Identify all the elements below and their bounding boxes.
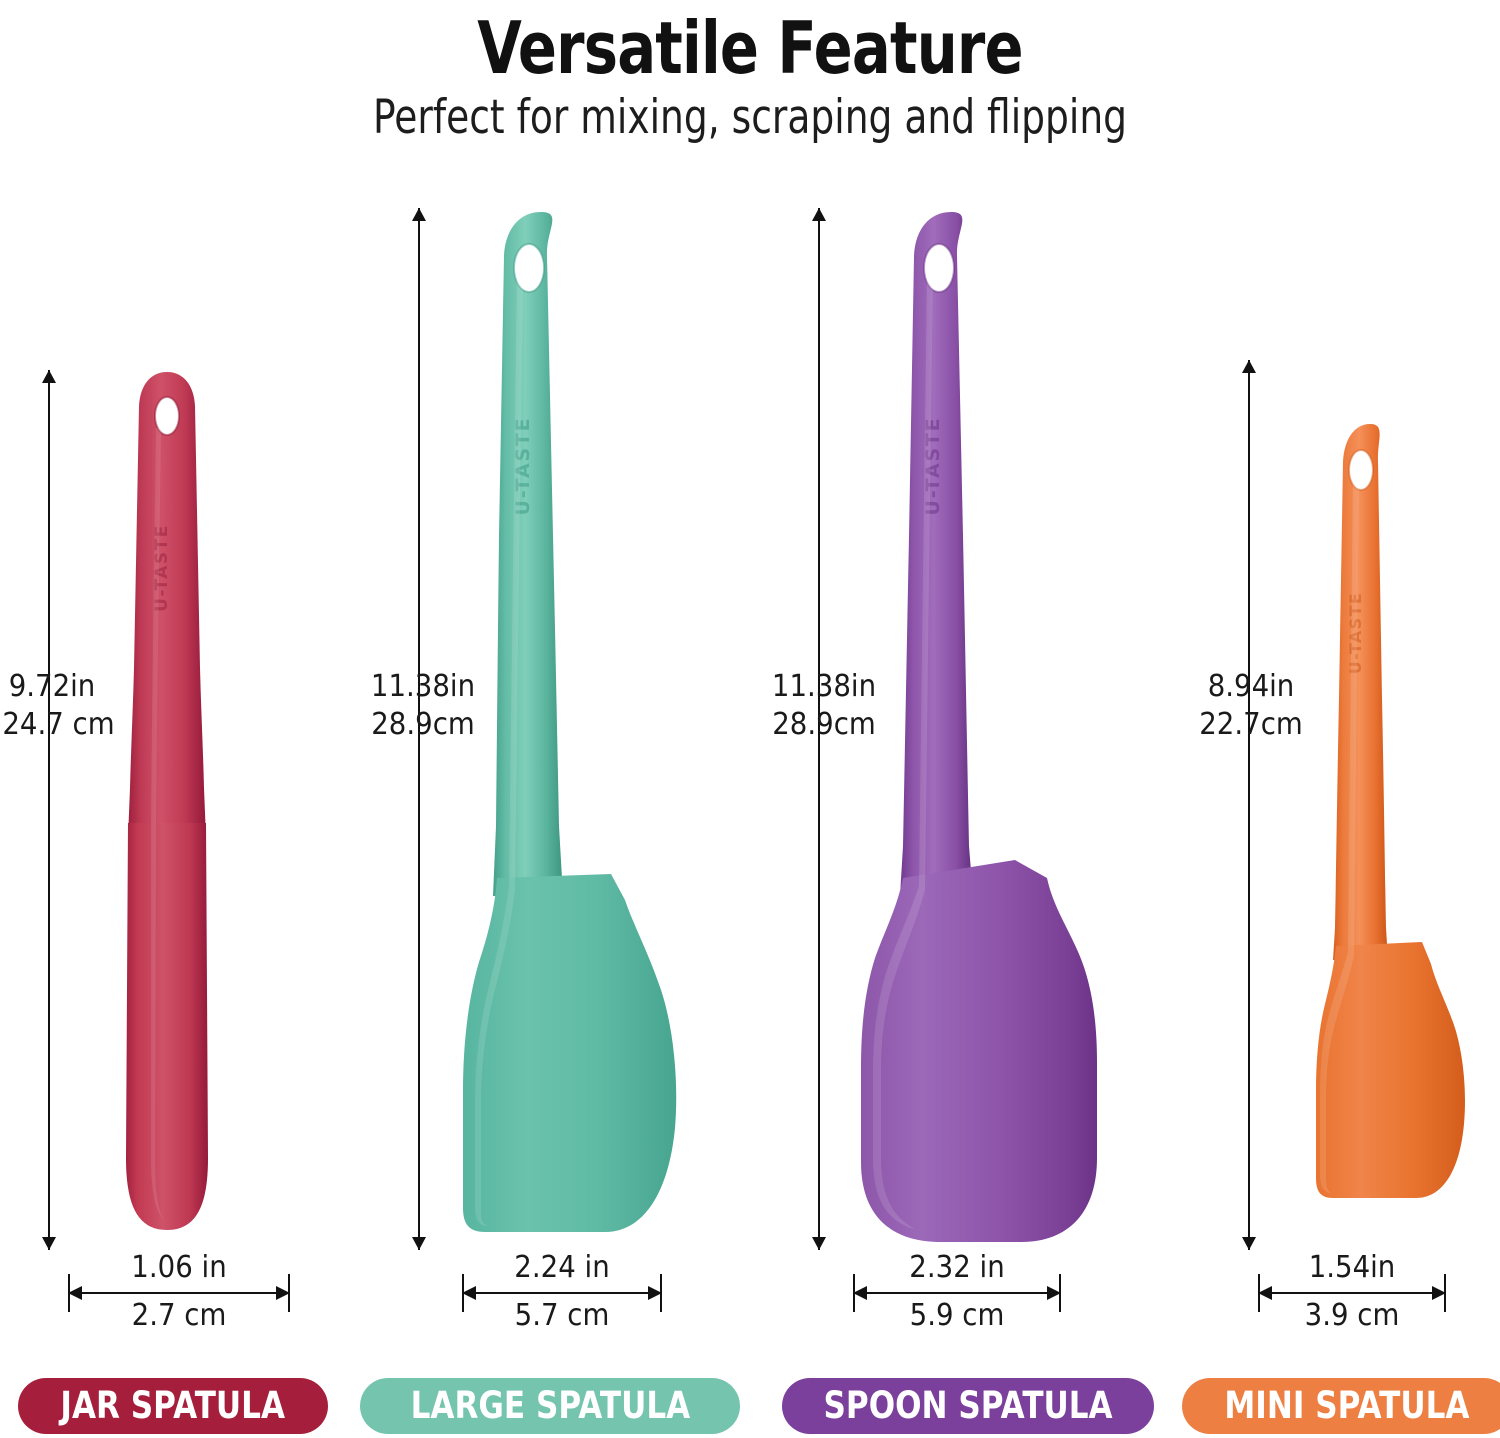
badge-spoon-spatula: SPOON SPATULA — [782, 1378, 1154, 1434]
product-column-jar-spatula: 9.72in 24.7 cm — [0, 190, 370, 1280]
large-spatula-image: U-TASTE — [455, 206, 715, 1281]
mini-blade-shape — [1316, 942, 1465, 1198]
width-inches-large: 2.24 in — [470, 1250, 654, 1286]
page-title: Versatile Feature — [150, 6, 1350, 90]
height-dimension-line-mini — [1248, 360, 1250, 1250]
jar-blade-shape — [126, 823, 208, 1230]
height-cm-mini: 22.7cm — [1197, 706, 1306, 744]
badge-large-spatula: LARGE SPATULA — [360, 1378, 740, 1434]
header: Versatile Feature Perfect for mixing, sc… — [0, 0, 1500, 146]
infographic-page: Versatile Feature Perfect for mixing, sc… — [0, 0, 1500, 1438]
badge-label-spoon: SPOON SPATULA — [823, 1378, 1112, 1434]
dimension-arrow-up — [412, 208, 426, 221]
width-cm-spoon: 5.9 cm — [861, 1298, 1052, 1334]
width-dimension-line-large: 2.24 in 5.7 cm — [462, 1292, 662, 1294]
product-column-mini-spatula: 8.94in 22.7cm — [1160, 190, 1500, 1280]
large-handle-shape — [493, 212, 563, 896]
height-dimension-line-jar — [48, 370, 50, 1250]
width-cm-jar: 2.7 cm — [77, 1298, 281, 1334]
spoon-bowl-shape — [861, 860, 1097, 1242]
product-column-large-spatula: 11.38in 28.9cm — [370, 190, 765, 1280]
dimension-arrow-down — [42, 1237, 56, 1250]
spoon-handle-shape — [900, 212, 973, 896]
dimension-arrow-up — [812, 208, 826, 221]
width-inches-mini: 1.54in — [1266, 1250, 1439, 1286]
dimension-arrow-down — [412, 1237, 426, 1250]
badge-mini-spatula: MINI SPATULA — [1182, 1378, 1500, 1434]
dimension-arrow-up — [42, 370, 56, 383]
large-blade-shape — [463, 874, 676, 1232]
spoon-spatula-image: U-TASTE — [853, 206, 1123, 1281]
height-inches-jar: 9.72in — [2, 668, 101, 706]
dimension-arrow-up — [1242, 360, 1256, 373]
badge-jar-spatula: JAR SPATULA — [18, 1378, 328, 1434]
width-dimension-line-jar: 1.06 in 2.7 cm — [68, 1292, 290, 1294]
height-label-jar: 9.72in 24.7 cm — [2, 668, 101, 744]
dimension-arrow-down — [1242, 1237, 1256, 1250]
badge-label-mini: MINI SPATULA — [1224, 1378, 1469, 1434]
width-dimension-line-spoon: 2.32 in 5.9 cm — [853, 1292, 1061, 1294]
width-inches-jar: 1.06 in — [77, 1250, 281, 1286]
dimension-arrow-down — [812, 1237, 826, 1250]
badge-label-large: LARGE SPATULA — [410, 1378, 690, 1434]
height-inches-mini: 8.94in — [1197, 668, 1306, 706]
page-subtitle: Perfect for mixing, scraping and flippin… — [150, 90, 1350, 146]
badge-label-jar: JAR SPATULA — [61, 1378, 286, 1434]
width-cm-mini: 3.9 cm — [1266, 1298, 1439, 1334]
product-name-badges: JAR SPATULA LARGE SPATULA SPOON SPATULA … — [0, 1378, 1500, 1438]
width-inches-spoon: 2.32 in — [861, 1250, 1052, 1286]
height-cm-jar: 24.7 cm — [2, 706, 101, 744]
height-label-mini: 8.94in 22.7cm — [1197, 668, 1306, 744]
width-dimension-line-mini: 1.54in 3.9 cm — [1258, 1292, 1446, 1294]
mini-handle-shape — [1333, 424, 1388, 960]
product-column-spoon-spatula: 11.38in 28.9cm — [765, 190, 1160, 1280]
width-cm-large: 5.7 cm — [470, 1298, 654, 1334]
